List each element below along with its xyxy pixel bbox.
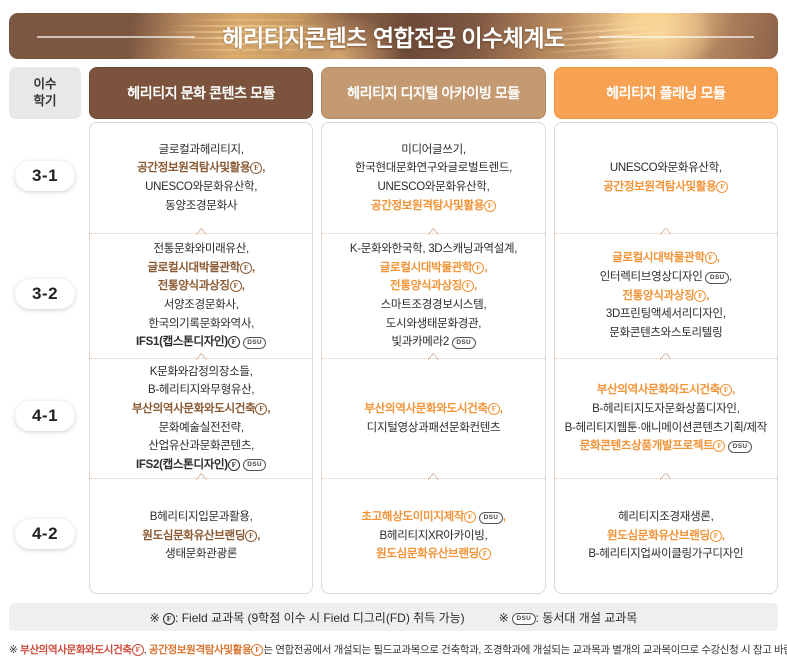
course-name: K-문화와한국학, 3D스캐닝과역설계,: [350, 243, 517, 255]
course-item: B-헤리티지도자문화상품디자인,: [561, 400, 771, 419]
course-name: 전통양식과상징: [158, 280, 230, 292]
course-name: 스마트조경경보시스템,: [381, 299, 487, 311]
course-name: 3D프린팅액세서리디자인,: [606, 308, 726, 320]
course-item: B-헤리티지웹툰·애니메이션콘텐츠기획/제작: [561, 419, 771, 438]
course-item: 전통양식과상징F,: [328, 277, 538, 296]
course-item: 글로컬시대박물관학F,: [96, 259, 306, 278]
field-icon: F: [240, 262, 252, 274]
course-name: 부산의역사문화와도시건축: [132, 403, 255, 415]
course-list: UNESCO와문화유산학,공간정보원격탐사및활용F: [561, 159, 771, 196]
dsu-icon: DSU: [479, 512, 503, 524]
field-icon: F: [694, 290, 706, 302]
course-item: B-헤리티지와무형유산,: [96, 381, 306, 400]
course-item: 문화예술실전전략,: [96, 419, 306, 438]
semester-pill: 4-2: [15, 519, 75, 549]
course-cell-digital-archiving-4-2: 초고해상도이미지제작F DSU,B헤리티지XR아카이빙,원도심문화유산브랜딩F: [322, 478, 544, 593]
course-name: K문화와감정의장소들,: [150, 366, 253, 378]
legend-dsu-item: ※ DSU: 동서대 개설 교과목: [499, 609, 638, 626]
course-name: 전통문화와미래유산,: [153, 243, 248, 255]
module-header-culture-content[interactable]: 헤리티지 문화 콘텐츠 모듈: [89, 67, 313, 119]
course-list: 부산의역사문화와도시건축F,디지털영상과패션문화컨텐츠: [328, 400, 538, 437]
course-name: 도시와생태문화경관,: [386, 318, 481, 330]
legend-dsu-suffix: : 동서대 개설 교과목: [536, 611, 638, 625]
course-name: UNESCO와문화유산학,: [610, 162, 722, 174]
field-icon: F: [720, 384, 732, 396]
semester-column-header: 이수 학기: [9, 67, 81, 119]
field-icon: F: [163, 613, 175, 625]
course-item: 서양조경문화사,: [96, 296, 306, 315]
course-name: 문화콘텐츠상품개발프로젝트: [580, 440, 714, 452]
dsu-icon: DSU: [705, 272, 729, 284]
course-separator: ,: [257, 530, 260, 542]
course-name: 생태문화관광론: [165, 548, 237, 560]
field-icon: F: [251, 644, 263, 656]
course-item: IFS1(캡스톤디자인)F DSU: [96, 333, 306, 352]
course-separator: ,: [717, 252, 720, 264]
field-icon: F: [488, 403, 500, 415]
legend-field-suffix: : Field 교과목 (9학점 이수 시 Field 디그리(FD) 취득 가…: [175, 611, 465, 625]
course-item: 공간정보원격탐사및활용F: [561, 178, 771, 197]
course-item: 스마트조경경보시스템,: [328, 296, 538, 315]
semester-pill: 3-2: [15, 279, 75, 309]
course-item: 전통양식과상징F,: [96, 277, 306, 296]
course-cell-heritage-planning-3-2: 글로컬시대박물관학F,인터렉티브영상디자인 DSU,전통양식과상징F,3D프린팅…: [555, 233, 777, 358]
course-separator: ,: [267, 403, 270, 415]
course-item: 문화콘텐츠상품개발프로젝트F DSU: [561, 437, 771, 456]
course-name: 한국현대문화연구와글로벌트렌드,: [355, 162, 512, 174]
field-icon: F: [462, 280, 474, 292]
curriculum-diagram: 헤리티지콘텐츠 연합전공 이수체계도 이수 학기 3-13-24-14-2 헤리…: [0, 13, 787, 671]
course-item: 한국현대문화연구와글로벌트렌드,: [328, 159, 538, 178]
course-cell-culture-content-4-1: K문화와감정의장소들,B-헤리티지와무형유산,부산의역사문화와도시건축F,문화예…: [90, 358, 312, 478]
footnote-prefix: ※: [9, 644, 20, 656]
course-item: 글로컬시대박물관학F,: [561, 249, 771, 268]
semester-header-line1: 이수: [33, 76, 56, 93]
module-column-digital-archiving: 헤리티지 디지털 아카이빙 모듈미디어글쓰기,한국현대문화연구와글로벌트렌드,U…: [321, 67, 545, 594]
course-name: 문화콘텐츠와스토리텔링: [609, 327, 722, 339]
course-separator: ,: [484, 262, 487, 274]
field-icon: F: [230, 280, 242, 292]
course-item: 원도심문화유산브랜딩F: [328, 545, 538, 564]
course-item: 공간정보원격탐사및활용F: [328, 197, 538, 216]
legend-field-item: ※ F: Field 교과목 (9학점 이수 시 Field 디그리(FD) 취…: [150, 609, 465, 626]
course-item: 공간정보원격탐사및활용F,: [96, 159, 306, 178]
footnote: ※ 부산의역사문화와도시건축F, 공간정보원격탐사및활용F는 연합전공에서 개설…: [9, 642, 778, 657]
course-item: 부산의역사문화와도시건축F,: [561, 381, 771, 400]
course-name: 전통양식과상징: [390, 280, 462, 292]
course-cell-digital-archiving-3-2: K-문화와한국학, 3D스캐닝과역설계,글로컬시대박물관학F,전통양식과상징F,…: [322, 233, 544, 358]
course-cell-heritage-planning-3-1: UNESCO와문화유산학,공간정보원격탐사및활용F: [555, 123, 777, 233]
field-icon: F: [228, 459, 240, 471]
course-item: B헤리티지입문과활용,: [96, 508, 306, 527]
course-name: 미디어글쓰기,: [401, 144, 466, 156]
course-item: 3D프린팅액세서리디자인,: [561, 305, 771, 324]
course-name: IFS1(캡스톤디자인): [136, 336, 228, 348]
course-list: B헤리티지입문과활용,원도심문화유산브랜딩F,생태문화관광론: [96, 508, 306, 564]
module-body-culture-content: 글로컬과헤리티지,공간정보원격탐사및활용F,UNESCO와문화유산학,동양조경문…: [89, 122, 313, 594]
module-column-heritage-planning: 헤리티지 플래닝 모듈UNESCO와문화유산학,공간정보원격탐사및활용F글로컬시…: [554, 67, 778, 594]
field-icon: F: [716, 181, 728, 193]
course-item: 인터렉티브영상디자인 DSU,: [561, 268, 771, 287]
course-separator: ,: [262, 162, 265, 174]
course-name: 원도심문화유산브랜딩: [376, 548, 479, 560]
semester-header-line2: 학기: [33, 93, 56, 110]
curriculum-grid: 이수 학기 3-13-24-14-2 헤리티지 문화 콘텐츠 모듈글로컬과헤리티…: [9, 67, 778, 594]
course-separator: ,: [474, 280, 477, 292]
course-cell-digital-archiving-4-1: 부산의역사문화와도시건축F,디지털영상과패션문화컨텐츠: [322, 358, 544, 478]
course-item: 헤리티지조경재생론,: [561, 508, 771, 527]
footnote-course-1: 부산의역사문화와도시건축: [20, 644, 132, 656]
semester-pill: 3-1: [15, 161, 75, 191]
course-list: 헤리티지조경재생론,원도심문화유산브랜딩F,B-헤리티지업싸이클링가구디자인: [561, 508, 771, 564]
course-item: 글로컬과헤리티지,: [96, 141, 306, 160]
course-list: 전통문화와미래유산,글로컬시대박물관학F,전통양식과상징F,서양조경문화사,한국…: [96, 240, 306, 352]
course-item: 초고해상도이미지제작F DSU,: [328, 508, 538, 527]
course-name: 문화예술실전전략,: [159, 422, 244, 434]
course-item: 디지털영상과패션문화컨텐츠: [328, 419, 538, 438]
course-item: 한국의기록문화와역사,: [96, 315, 306, 334]
course-item: 전통양식과상징F,: [561, 287, 771, 306]
module-body-digital-archiving: 미디어글쓰기,한국현대문화연구와글로벌트렌드,UNESCO와문화유산학,공간정보…: [321, 122, 545, 594]
course-list: 부산의역사문화와도시건축F,B-헤리티지도자문화상품디자인,B-헤리티지웹툰·애…: [561, 381, 771, 456]
course-name: 글로컬시대박물관학: [380, 262, 473, 274]
field-icon: F: [713, 440, 725, 452]
semester-cell-4-2: 4-2: [9, 476, 81, 591]
field-icon: F: [132, 644, 144, 656]
course-name: 원도심문화유산브랜딩: [607, 530, 710, 542]
module-header-heritage-planning[interactable]: 헤리티지 플래닝 모듈: [554, 67, 778, 119]
course-item: 동양조경문화사: [96, 197, 306, 216]
course-list: K-문화와한국학, 3D스캐닝과역설계,글로컬시대박물관학F,전통양식과상징F,…: [328, 240, 538, 352]
course-item: UNESCO와문화유산학,: [96, 178, 306, 197]
course-list: 글로컬시대박물관학F,인터렉티브영상디자인 DSU,전통양식과상징F,3D프린팅…: [561, 249, 771, 342]
field-icon: F: [464, 511, 476, 523]
course-name: 한국의기록문화와역사,: [148, 318, 254, 330]
course-cell-culture-content-4-2: B헤리티지입문과활용,원도심문화유산브랜딩F,생태문화관광론: [90, 478, 312, 593]
course-item: 부산의역사문화와도시건축F,: [328, 400, 538, 419]
semester-pill: 4-1: [15, 401, 75, 431]
dsu-icon: DSU: [243, 459, 267, 471]
course-separator: ,: [706, 290, 709, 302]
course-name: B-헤리티지도자문화상품디자인,: [592, 403, 739, 415]
footnote-course-2: 공간정보원격탐사및활용: [149, 644, 251, 656]
course-cell-heritage-planning-4-2: 헤리티지조경재생론,원도심문화유산브랜딩F,B-헤리티지업싸이클링가구디자인: [555, 478, 777, 593]
course-name: 빛과카메라2: [391, 336, 449, 348]
field-icon: F: [250, 162, 262, 174]
semester-column: 이수 학기 3-13-24-14-2: [9, 67, 81, 591]
semester-cell-3-2: 3-2: [9, 231, 81, 356]
course-name: 부산의역사문화와도시건축: [364, 403, 487, 415]
legend-field-prefix: ※: [150, 611, 163, 625]
course-name: B헤리티지XR아카이빙,: [380, 530, 488, 542]
course-item: 생태문화관광론: [96, 545, 306, 564]
course-list: 초고해상도이미지제작F DSU,B헤리티지XR아카이빙,원도심문화유산브랜딩F: [328, 508, 538, 564]
course-name: B-헤리티지와무형유산,: [148, 384, 254, 396]
course-name: 동양조경문화사: [165, 200, 237, 212]
course-name: B-헤리티지업싸이클링가구디자인: [588, 548, 743, 560]
course-item: 부산의역사문화와도시건축F,: [96, 400, 306, 419]
course-name: 전통양식과상징: [622, 290, 694, 302]
course-item: 빛과카메라2 DSU: [328, 333, 538, 352]
course-cell-culture-content-3-1: 글로컬과헤리티지,공간정보원격탐사및활용F,UNESCO와문화유산학,동양조경문…: [90, 123, 312, 233]
course-separator: ,: [252, 262, 255, 274]
page-title: 헤리티지콘텐츠 연합전공 이수체계도: [9, 13, 778, 59]
course-name: B-헤리티지웹툰·애니메이션콘텐츠기획/제작: [565, 422, 767, 434]
course-item: UNESCO와문화유산학,: [561, 159, 771, 178]
course-name: 디지털영상과패션문화컨텐츠: [367, 422, 501, 434]
course-item: 글로컬시대박물관학F,: [328, 259, 538, 278]
field-icon: F: [245, 530, 257, 542]
dsu-icon: DSU: [243, 337, 267, 349]
field-icon: F: [255, 403, 267, 415]
dsu-icon: DSU: [728, 441, 752, 453]
semester-cell-3-1: 3-1: [9, 121, 81, 231]
course-item: K-문화와한국학, 3D스캐닝과역설계,: [328, 240, 538, 259]
field-icon: F: [472, 262, 484, 274]
course-name: 공간정보원격탐사및활용: [603, 181, 716, 193]
course-separator: ,: [503, 511, 506, 523]
course-name: 인터렉티브영상디자인: [600, 271, 703, 283]
course-name: 헤리티지조경재생론,: [618, 511, 713, 523]
course-separator: ,: [729, 271, 732, 283]
module-header-digital-archiving[interactable]: 헤리티지 디지털 아카이빙 모듈: [321, 67, 545, 119]
course-separator: ,: [242, 280, 245, 292]
dsu-icon: DSU: [452, 337, 476, 349]
semester-cell-4-1: 4-1: [9, 356, 81, 476]
course-item: UNESCO와문화유산학,: [328, 178, 538, 197]
course-item: 전통문화와미래유산,: [96, 240, 306, 259]
course-name: 글로컬과헤리티지,: [159, 144, 244, 156]
module-body-heritage-planning: UNESCO와문화유산학,공간정보원격탐사및활용F글로컬시대박물관학F,인터렉티…: [554, 122, 778, 594]
course-item: B헤리티지XR아카이빙,: [328, 527, 538, 546]
legend-bar: ※ F: Field 교과목 (9학점 이수 시 Field 디그리(FD) 취…: [9, 603, 778, 631]
course-name: UNESCO와문화유산학,: [378, 181, 490, 193]
course-item: 원도심문화유산브랜딩F,: [561, 527, 771, 546]
course-name: 공간정보원격탐사및활용: [137, 162, 250, 174]
field-icon: F: [479, 548, 491, 560]
course-list: 미디어글쓰기,한국현대문화연구와글로벌트렌드,UNESCO와문화유산학,공간정보…: [328, 141, 538, 216]
course-separator: ,: [500, 403, 503, 415]
course-separator: ,: [732, 384, 735, 396]
course-item: 도시와생태문화경관,: [328, 315, 538, 334]
course-list: K문화와감정의장소들,B-헤리티지와무형유산,부산의역사문화와도시건축F,문화예…: [96, 363, 306, 475]
course-cell-heritage-planning-4-1: 부산의역사문화와도시건축F,B-헤리티지도자문화상품디자인,B-헤리티지웹툰·애…: [555, 358, 777, 478]
course-name: UNESCO와문화유산학,: [145, 181, 257, 193]
course-separator: ,: [722, 530, 725, 542]
semester-cells: 3-13-24-14-2: [9, 121, 81, 591]
course-cell-culture-content-3-2: 전통문화와미래유산,글로컬시대박물관학F,전통양식과상징F,서양조경문화사,한국…: [90, 233, 312, 358]
course-item: 원도심문화유산브랜딩F,: [96, 527, 306, 546]
legend-dsu-prefix: ※: [499, 611, 512, 625]
course-name: 초고해상도이미지제작: [361, 511, 464, 523]
course-item: 산업유산과문화콘텐츠,: [96, 437, 306, 456]
course-name: 서양조경문화사,: [164, 299, 239, 311]
course-name: 공간정보원격탐사및활용: [371, 200, 484, 212]
dsu-icon: DSU: [512, 613, 536, 625]
course-name: 원도심문화유산브랜딩: [142, 530, 245, 542]
module-column-culture-content: 헤리티지 문화 콘텐츠 모듈글로컬과헤리티지,공간정보원격탐사및활용F,UNES…: [89, 67, 313, 594]
course-cell-digital-archiving-3-1: 미디어글쓰기,한국현대문화연구와글로벌트렌드,UNESCO와문화유산학,공간정보…: [322, 123, 544, 233]
course-item: K문화와감정의장소들,: [96, 363, 306, 382]
course-item: 문화콘텐츠와스토리텔링: [561, 324, 771, 343]
field-icon: F: [705, 252, 717, 264]
course-name: B헤리티지입문과활용,: [150, 511, 253, 523]
course-list: 글로컬과헤리티지,공간정보원격탐사및활용F,UNESCO와문화유산학,동양조경문…: [96, 141, 306, 216]
course-name: 글로컬시대박물관학: [612, 252, 705, 264]
course-item: IFS2(캡스톤디자인)F DSU: [96, 456, 306, 475]
course-item: 미디어글쓰기,: [328, 141, 538, 160]
field-icon: F: [228, 336, 240, 348]
footnote-body: 는 연합전공에서 개설되는 필드교과목으로 건축학과, 조경학과에 개설되는 교…: [263, 644, 787, 656]
field-icon: F: [484, 200, 496, 212]
course-name: 부산의역사문화와도시건축: [597, 384, 720, 396]
field-icon: F: [710, 530, 722, 542]
course-name: 글로컬시대박물관학: [147, 262, 240, 274]
page-banner: 헤리티지콘텐츠 연합전공 이수체계도: [9, 13, 778, 59]
course-item: B-헤리티지업싸이클링가구디자인: [561, 545, 771, 564]
course-name: 산업유산과문화콘텐츠,: [148, 440, 254, 452]
course-name: IFS2(캡스톤디자인): [136, 459, 228, 471]
